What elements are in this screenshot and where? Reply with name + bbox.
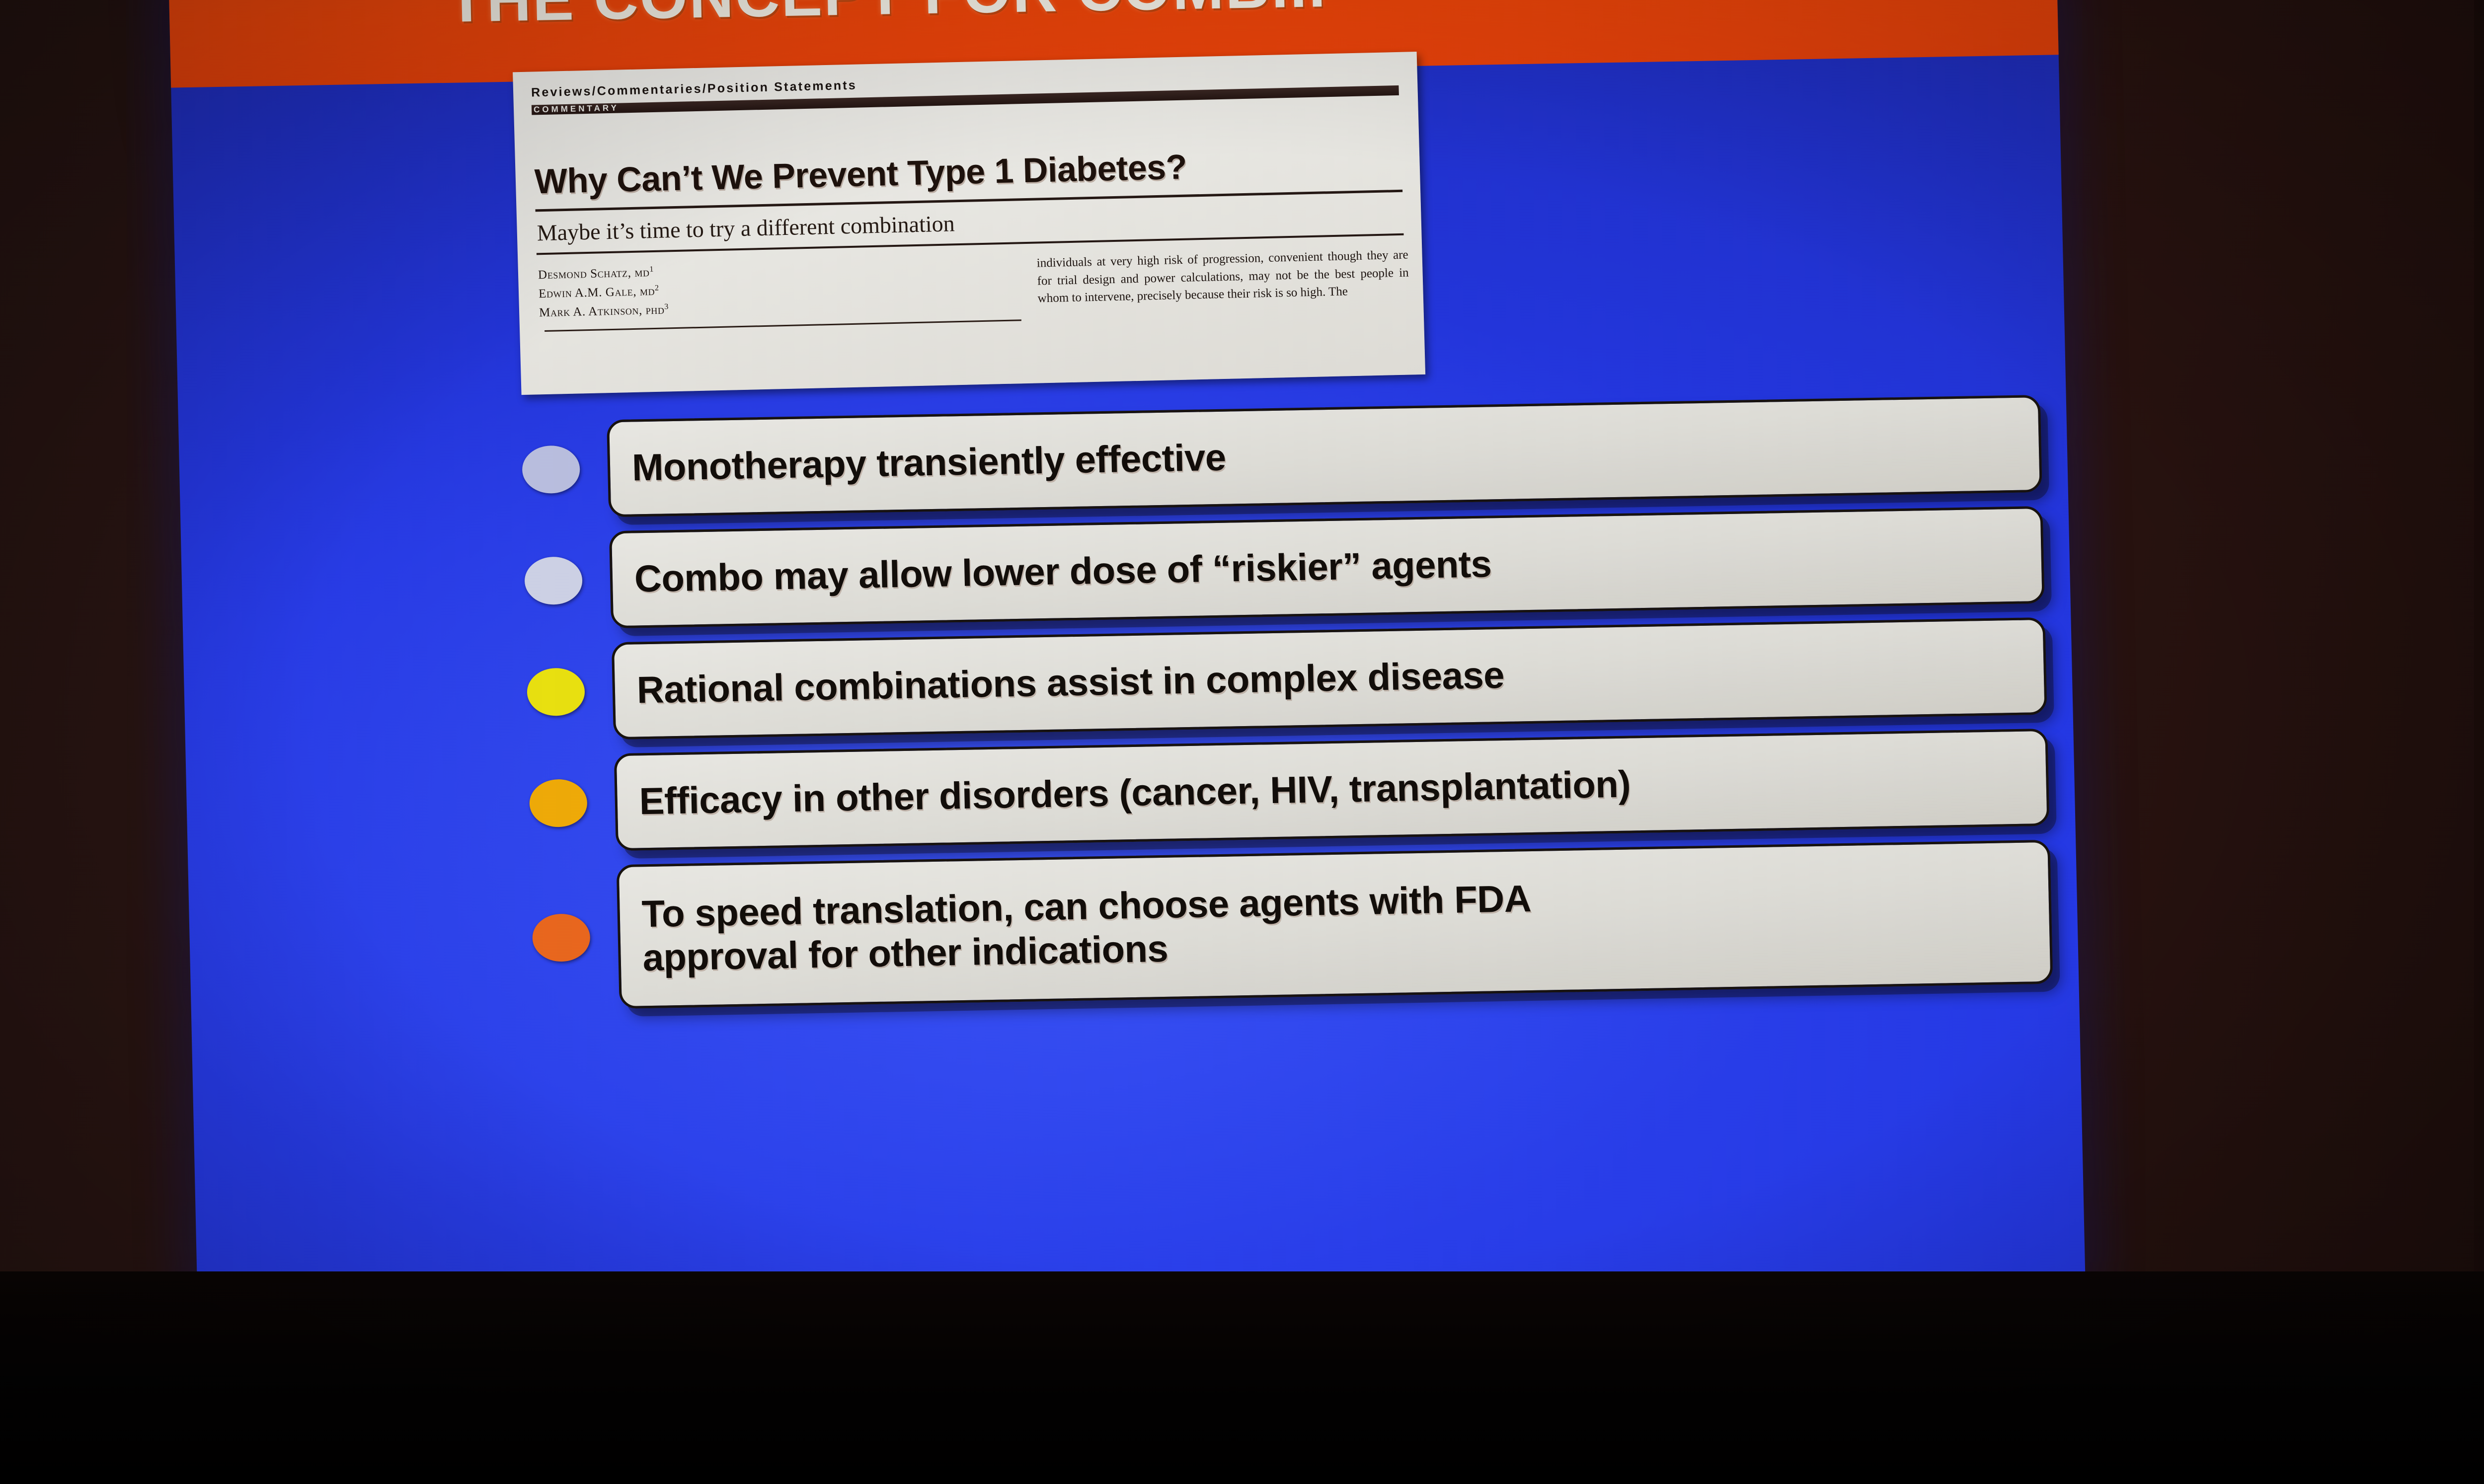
list-item: Combo may allow lower dose of “riskier” … [181,506,2071,636]
bullet-dot-icon [527,668,585,716]
author-affiliation-marker: 2 [655,284,659,292]
author-affiliation-marker: 1 [649,265,654,274]
author-name: Desmond Schatz, md [538,266,650,282]
article-author-list: Desmond Schatz, md1 Edwin A.M. Gale, md2… [533,255,1026,332]
bullet-dot-icon [532,913,591,962]
projection-room-scene: THE CONCEPT FOR COMB... Reviews/Commenta… [0,0,2484,1484]
bullet-box[interactable]: Combo may allow lower dose of “riskier” … [609,506,2045,628]
bullet-box[interactable]: Efficacy in other disorders (cancer, HIV… [614,729,2050,851]
room-right-shadow [2474,0,2484,1341]
list-item: Efficacy in other disorders (cancer, HIV… [186,728,2076,858]
article-columns: Desmond Schatz, md1 Edwin A.M. Gale, md2… [533,246,1410,332]
bullet-dot-icon [529,779,588,827]
projected-slide: THE CONCEPT FOR COMB... Reviews/Commenta… [168,0,2086,1311]
room-floor-shadow [0,1271,2484,1484]
article-divider-3 [544,319,1021,332]
list-item: Rational combinations assist in complex … [183,617,2073,747]
author-name: Edwin A.M. Gale, md [539,285,655,300]
author-name: Mark A. Atkinson, phd [539,303,665,320]
journal-article-clipping: Reviews/Commentaries/Position Statements… [513,52,1425,395]
bullet-text: Efficacy in other disorders (cancer, HIV… [639,762,1631,823]
author-affiliation-marker: 3 [664,302,669,311]
bullet-dot-icon [522,445,580,494]
bullet-text: Rational combinations assist in complex … [636,654,1505,713]
bullet-box[interactable]: To speed translation, can choose agents … [617,840,2053,1009]
bullet-text: Combo may allow lower dose of “riskier” … [634,542,1492,601]
bullet-dot-icon [524,556,583,605]
bullet-list: Monotherapy transiently effective Combo … [178,394,2079,1030]
bullet-text: To speed translation, can choose agents … [641,877,1533,980]
bullet-box[interactable]: Rational combinations assist in complex … [612,617,2047,740]
bullet-text: Monotherapy transiently effective [631,436,1226,490]
list-item: To speed translation, can choose agents … [188,839,2079,1016]
article-abstract-column: individuals at very high risk of progres… [1036,246,1409,321]
article-section-tag: COMMENTARY [532,102,623,115]
slide-title-text: THE CONCEPT FOR COMB... [447,0,1939,36]
